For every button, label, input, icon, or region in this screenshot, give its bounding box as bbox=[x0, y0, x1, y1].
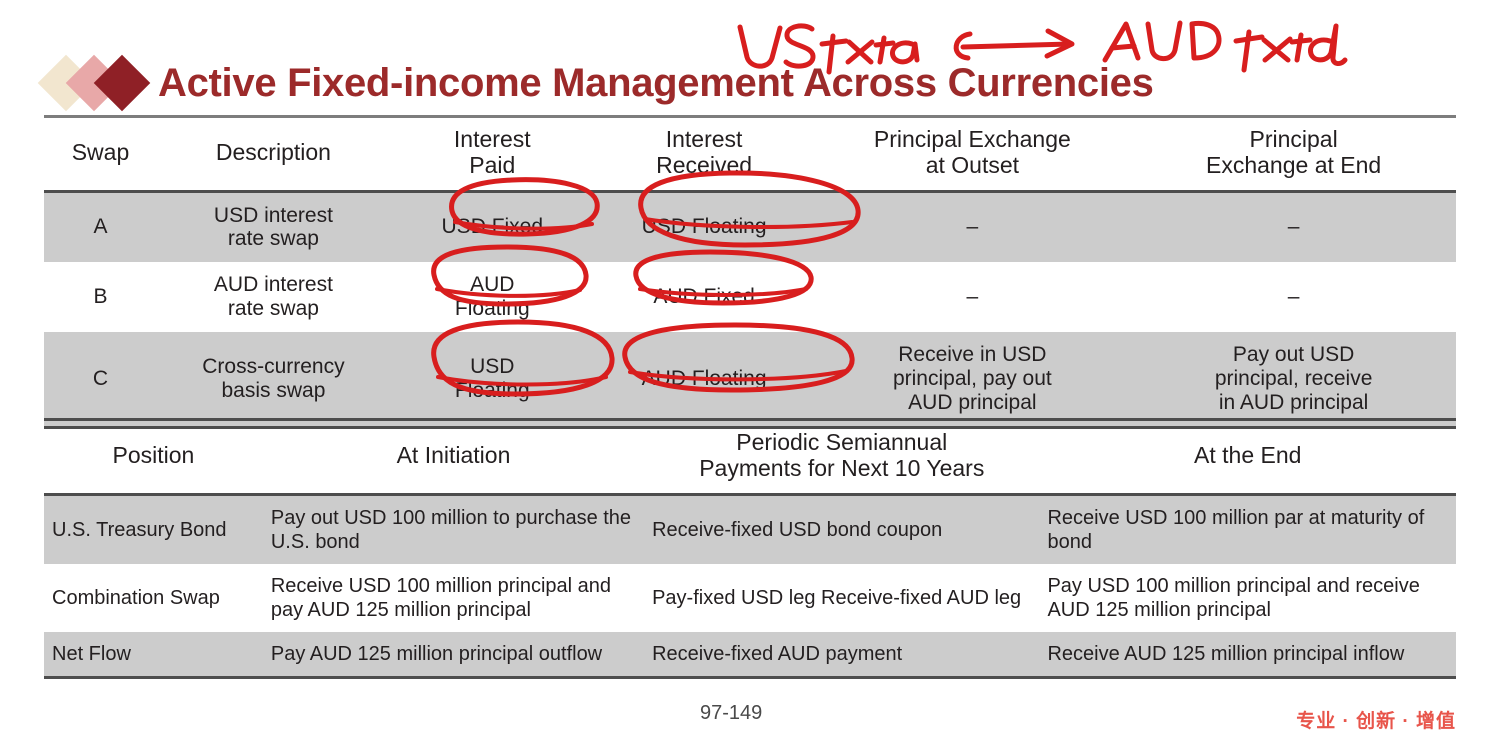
column-header-principal-end-line1: Principal bbox=[1137, 127, 1450, 153]
slide-canvas: Active Fixed-income Management Across Cu… bbox=[0, 0, 1500, 750]
cell-periodic-payments: Receive-fixed USD bond coupon bbox=[644, 494, 1039, 564]
cell-principal-end-line2: principal, receive bbox=[1139, 367, 1448, 391]
column-header-principal-outset: Principal Exchange at Outset bbox=[814, 118, 1132, 191]
cell-interest-paid-line1: AUD bbox=[398, 273, 587, 297]
column-header-interest-received: Interest Received bbox=[595, 118, 814, 191]
cell-principal-outset: – bbox=[814, 262, 1132, 332]
cell-principal-end-line1: Pay out USD bbox=[1139, 343, 1448, 367]
cell-description-line2: rate swap bbox=[165, 227, 382, 251]
cell-at-initiation: Pay out USD 100 million to purchase the … bbox=[263, 494, 644, 564]
column-header-principal-outset-line2: at Outset bbox=[820, 153, 1126, 179]
cell-interest-paid-line1: USD bbox=[398, 355, 587, 379]
column-header-swap-line1: Swap bbox=[50, 140, 151, 166]
column-header-at-initiation-line1: At Initiation bbox=[269, 443, 638, 469]
cell-principal-outset-line3: AUD principal bbox=[822, 391, 1124, 415]
cell-swap: C bbox=[44, 332, 157, 427]
positions-table-header-row: Position At Initiation Periodic Semiannu… bbox=[44, 420, 1456, 495]
slide-title-row: Active Fixed-income Management Across Cu… bbox=[44, 52, 1456, 114]
table-row: U.S. Treasury Bond Pay out USD 100 milli… bbox=[44, 494, 1456, 564]
column-header-description-line1: Description bbox=[163, 140, 384, 166]
cell-swap: B bbox=[44, 262, 157, 332]
column-header-interest-paid-line1: Interest bbox=[396, 127, 589, 153]
column-header-periodic-line1: Periodic Semiannual bbox=[650, 430, 1033, 456]
table-row: Combination Swap Receive USD 100 million… bbox=[44, 564, 1456, 632]
column-header-at-initiation: At Initiation bbox=[263, 420, 644, 495]
cell-interest-received: AUD Floating bbox=[595, 332, 814, 427]
cell-description-line2: rate swap bbox=[165, 297, 382, 321]
positions-table-container: Position At Initiation Periodic Semiannu… bbox=[44, 418, 1456, 679]
cell-interest-paid-line2: Floating bbox=[398, 297, 587, 321]
cell-at-initiation: Receive USD 100 million principal and pa… bbox=[263, 564, 644, 632]
page-number: 97-149 bbox=[700, 702, 762, 725]
table-row: C Cross-currency basis swap USD Floating… bbox=[44, 332, 1456, 427]
cell-position: Combination Swap bbox=[44, 564, 263, 632]
cell-principal-outset-line1: – bbox=[822, 285, 1124, 309]
column-header-swap: Swap bbox=[44, 118, 157, 191]
cell-description: Cross-currency basis swap bbox=[157, 332, 390, 427]
column-header-at-the-end: At the End bbox=[1039, 420, 1456, 495]
column-header-position-line1: Position bbox=[50, 443, 257, 469]
cell-description-line1: Cross-currency bbox=[165, 355, 382, 379]
cell-periodic-payments: Receive-fixed AUD payment bbox=[644, 632, 1039, 678]
column-header-principal-outset-line1: Principal Exchange bbox=[820, 127, 1126, 153]
column-header-principal-end: Principal Exchange at End bbox=[1131, 118, 1456, 191]
cell-swap: A bbox=[44, 191, 157, 262]
diamond-logo-icon bbox=[44, 55, 162, 111]
cell-interest-paid: USD Floating bbox=[390, 332, 595, 427]
brand-slogan: 专业 · 创新 · 增值 bbox=[1296, 706, 1456, 733]
positions-table: Position At Initiation Periodic Semiannu… bbox=[44, 418, 1456, 679]
cell-principal-end: – bbox=[1131, 262, 1456, 332]
cell-principal-end-line1: – bbox=[1139, 215, 1448, 239]
cell-principal-outset-line2: principal, pay out bbox=[822, 367, 1124, 391]
cell-principal-end: – bbox=[1131, 191, 1456, 262]
table-row: Net Flow Pay AUD 125 million principal o… bbox=[44, 632, 1456, 678]
column-header-description: Description bbox=[157, 118, 390, 191]
swaps-table-header-row: Swap Description Interest Paid Interest … bbox=[44, 118, 1456, 191]
column-header-interest-received-line2: Received bbox=[601, 153, 808, 179]
cell-position: U.S. Treasury Bond bbox=[44, 494, 263, 564]
cell-principal-end: Pay out USD principal, receive in AUD pr… bbox=[1131, 332, 1456, 427]
column-header-at-the-end-line1: At the End bbox=[1045, 443, 1450, 469]
cell-at-the-end: Receive AUD 125 million principal inflow bbox=[1039, 632, 1456, 678]
cell-interest-received: USD Floating bbox=[595, 191, 814, 262]
cell-principal-outset-line1: – bbox=[822, 215, 1124, 239]
cell-description-line1: USD interest bbox=[165, 204, 382, 228]
cell-description-line2: basis swap bbox=[165, 379, 382, 403]
cell-description-line1: AUD interest bbox=[165, 273, 382, 297]
cell-periodic-payments: Pay-fixed USD leg Receive-fixed AUD leg bbox=[644, 564, 1039, 632]
cell-interest-received: AUD Fixed bbox=[595, 262, 814, 332]
cell-interest-received-line1: AUD Floating bbox=[603, 367, 806, 391]
column-header-periodic-payments: Periodic Semiannual Payments for Next 10… bbox=[644, 420, 1039, 495]
cell-principal-outset: – bbox=[814, 191, 1132, 262]
cell-principal-end-line3: in AUD principal bbox=[1139, 391, 1448, 415]
cell-interest-paid-line2: Floating bbox=[398, 379, 587, 403]
cell-description: AUD interest rate swap bbox=[157, 262, 390, 332]
column-header-interest-paid-line2: Paid bbox=[396, 153, 589, 179]
page-title: Active Fixed-income Management Across Cu… bbox=[158, 63, 1154, 103]
column-header-principal-end-line2: Exchange at End bbox=[1137, 153, 1450, 179]
table-row: B AUD interest rate swap AUD Floating AU… bbox=[44, 262, 1456, 332]
cell-at-the-end: Receive USD 100 million par at maturity … bbox=[1039, 494, 1456, 564]
table-row: A USD interest rate swap USD Fixed USD F… bbox=[44, 191, 1456, 262]
column-header-periodic-line2: Payments for Next 10 Years bbox=[650, 456, 1033, 482]
cell-interest-paid: AUD Floating bbox=[390, 262, 595, 332]
swaps-table: Swap Description Interest Paid Interest … bbox=[44, 118, 1456, 429]
column-header-interest-paid: Interest Paid bbox=[390, 118, 595, 191]
cell-description: USD interest rate swap bbox=[157, 191, 390, 262]
cell-interest-paid-line1: USD Fixed bbox=[398, 215, 587, 239]
swaps-table-container: Swap Description Interest Paid Interest … bbox=[44, 118, 1456, 429]
cell-at-initiation: Pay AUD 125 million principal outflow bbox=[263, 632, 644, 678]
column-header-interest-received-line1: Interest bbox=[601, 127, 808, 153]
cell-principal-end-line1: – bbox=[1139, 285, 1448, 309]
cell-at-the-end: Pay USD 100 million principal and receiv… bbox=[1039, 564, 1456, 632]
cell-interest-paid: USD Fixed bbox=[390, 191, 595, 262]
cell-principal-outset: Receive in USD principal, pay out AUD pr… bbox=[814, 332, 1132, 427]
cell-principal-outset-line1: Receive in USD bbox=[822, 343, 1124, 367]
ink-arrow-shaft bbox=[963, 44, 1070, 47]
cell-interest-received-line1: AUD Fixed bbox=[603, 285, 806, 309]
cell-interest-received-line1: USD Floating bbox=[603, 215, 806, 239]
column-header-position: Position bbox=[44, 420, 263, 495]
cell-position: Net Flow bbox=[44, 632, 263, 678]
